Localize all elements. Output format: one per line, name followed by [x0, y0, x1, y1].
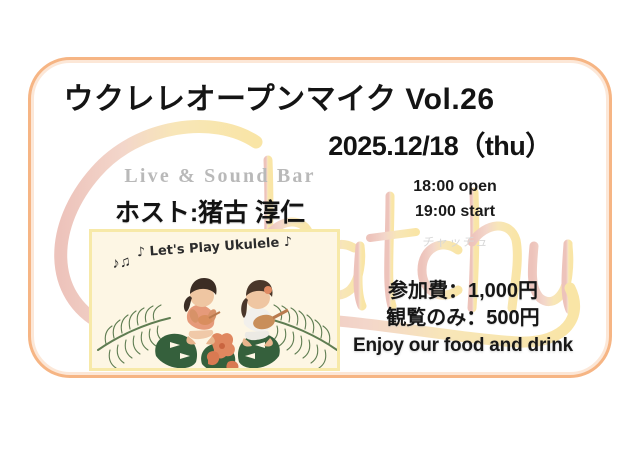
page-title: ウクレレオープンマイク Vol.26: [0, 74, 558, 118]
open-time: 18:00 open: [350, 174, 560, 199]
poster-canvas: ウクレレオープンマイク Vol.26 2025.12/18（thu） Live …: [0, 0, 640, 452]
spectator-fee: 観覧のみ：500円: [348, 305, 578, 332]
event-date: 2025.12/18（thu）: [290, 124, 590, 163]
host-name: ホスト:猪古 淳仁: [70, 193, 350, 229]
venue-brand: Live & Sound Bar: [85, 165, 355, 188]
start-time: 19:00 start: [350, 199, 560, 224]
entry-fee: 参加費：1,000円: [348, 278, 578, 305]
schedule-times: 18:00 open 19:00 start: [350, 174, 560, 224]
venue-brand-kana: チャッチュ: [355, 233, 555, 250]
food-drink-note: Enjoy our food and drink: [348, 335, 578, 357]
price-block: 参加費：1,000円 観覧のみ：500円 Enjoy our food and …: [348, 278, 578, 357]
